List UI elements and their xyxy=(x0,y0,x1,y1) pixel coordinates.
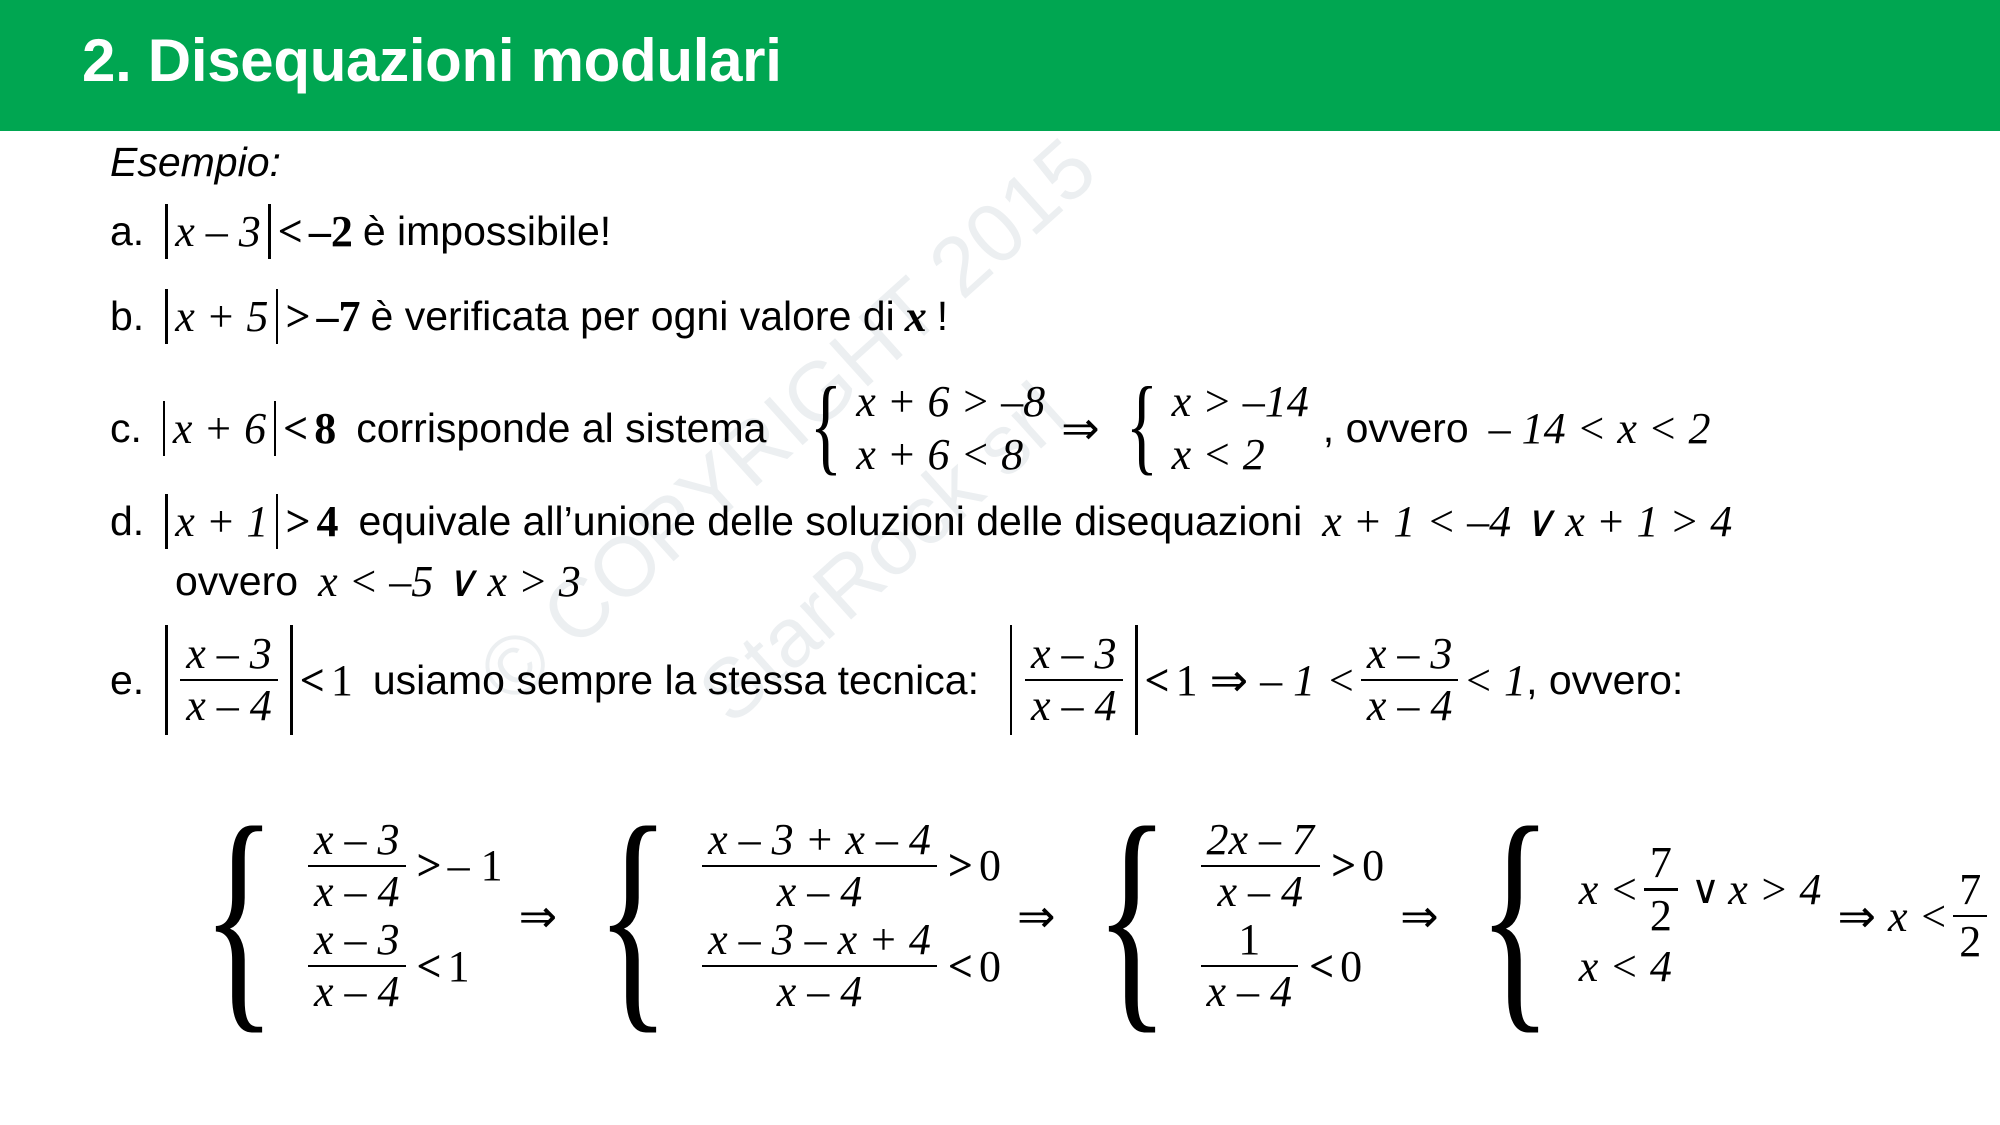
item-d-ovvero-line: ovvero x < –5 ∨ x > 3 xyxy=(175,556,581,607)
sys4-row1-or: ∨ xyxy=(1683,867,1728,913)
item-e-rhs: 1 xyxy=(331,655,353,706)
sys1-row2-den: x – 4 xyxy=(308,969,406,1015)
sys1-row2-rhs: 1 xyxy=(448,941,470,992)
item-c-sys1-row1: x + 6 > –8 xyxy=(856,376,1045,427)
item-b-text: è verificata per ogni valore di xyxy=(371,293,895,340)
sys4-row2: x < 4 xyxy=(1579,941,1672,992)
sys1-row1-rhs: – 1 xyxy=(448,840,503,891)
final-arrow-3: ⇒ xyxy=(1388,889,1451,943)
sys2-row1-den: x – 4 xyxy=(771,869,869,915)
final-system-4: { x < 7 2 ∨ x > 4 x < 4 xyxy=(1455,801,1822,1031)
item-c-rhs: 8 xyxy=(314,403,336,454)
brace-icon: { xyxy=(1126,376,1158,480)
item-b-rhs: –7 xyxy=(317,291,361,342)
sys2-row2-den: x – 4 xyxy=(771,969,869,1015)
final-system-2: { x – 3 + x – 4 x – 4 > 0 x – 3 – x + 4 xyxy=(573,801,1001,1031)
list-item-c: c. x + 6 < 8 corrisponde al sistema { x … xyxy=(110,376,1711,480)
list-item-b: b. x + 5 > –7 è verificata per ogni valo… xyxy=(110,291,948,342)
item-c-relation: < xyxy=(277,403,314,454)
sys3-row2-rel: < xyxy=(1303,941,1340,992)
item-e-derivation-den: x – 4 xyxy=(1025,683,1123,729)
conclusion-prefix: x < xyxy=(1888,891,1948,942)
brace-icon: { xyxy=(202,801,276,1031)
slide-header-band: 2. Disequazioni modulari xyxy=(0,0,2000,131)
item-a-expression: x – 3 < –2 xyxy=(164,206,353,257)
sys1-row2-num: x – 3 xyxy=(308,917,406,963)
final-arrow-4: ⇒ xyxy=(1825,889,1888,943)
item-b-abs-inner: x + 5 xyxy=(175,291,268,342)
sys3-row1-num: 2x – 7 xyxy=(1201,817,1321,863)
item-e-relation: < xyxy=(294,655,331,706)
item-e-frac-denominator: x – 4 xyxy=(180,683,278,729)
brace-icon: { xyxy=(1477,801,1551,1031)
brace-icon: { xyxy=(810,376,842,480)
item-e-chain-right: < 1 xyxy=(1463,655,1526,706)
conclusion-frac-num: 7 xyxy=(1953,867,1987,913)
item-a-abs-inner: x – 3 xyxy=(175,206,261,257)
item-e-chain-num: x – 3 xyxy=(1361,631,1459,677)
sys2-row1-rel: > xyxy=(942,840,979,891)
intro-label: Esempio: xyxy=(110,139,281,186)
item-c-expression: x + 6 < 8 xyxy=(162,403,336,454)
brace-icon: { xyxy=(1094,801,1168,1031)
item-d-ovvero-value: x < –5 ∨ x > 3 xyxy=(318,556,581,607)
item-c-abs-inner: x + 6 xyxy=(173,403,266,454)
item-a-rhs: –2 xyxy=(309,206,353,257)
final-system-3: { 2x – 7 x – 4 > 0 1 x – 4 xyxy=(1072,801,1385,1031)
final-arrow-1: ⇒ xyxy=(507,889,570,943)
item-c-result: – 14 < x < 2 xyxy=(1489,403,1711,454)
page-title: 2. Disequazioni modulari xyxy=(82,26,782,95)
item-marker-b: b. xyxy=(110,293,144,340)
sys3-row1-den: x – 4 xyxy=(1212,869,1310,915)
sys4-row1-frac-num: 7 xyxy=(1644,840,1678,886)
item-marker-d: d. xyxy=(110,498,144,545)
item-d-ovvero-label: ovvero xyxy=(175,558,298,605)
sys4-row1-suffix: x > 4 xyxy=(1728,864,1821,915)
item-a-text: è impossibile! xyxy=(363,208,611,255)
sys2-row1-num: x – 3 + x – 4 xyxy=(702,817,937,863)
item-e-derivation-num: x – 3 xyxy=(1025,631,1123,677)
final-conclusion: x < 7 2 xyxy=(1888,867,1992,965)
item-d-expression: x + 1 > 4 xyxy=(164,496,338,547)
item-e-frac-numerator: x – 3 xyxy=(180,631,278,677)
final-arrow-2: ⇒ xyxy=(1005,889,1068,943)
conclusion-frac-den: 2 xyxy=(1953,919,1987,965)
sys4-row1-prefix: x < xyxy=(1579,864,1639,915)
item-marker-c: c. xyxy=(110,405,142,452)
item-marker-e: e. xyxy=(110,657,144,704)
sys1-row1-den: x – 4 xyxy=(308,869,406,915)
item-b-expression: x + 5 > –7 xyxy=(164,291,360,342)
item-d-disequazioni: x + 1 < –4 ∨ x + 1 > 4 xyxy=(1322,496,1732,547)
final-derivation-chain: { x – 3 x – 4 > – 1 x – 3 x – 4 xyxy=(175,801,1992,1031)
item-e-text-end: , ovvero: xyxy=(1526,657,1683,704)
slide-body: Esempio: a. x – 3 < –2 è impossibile! b.… xyxy=(0,131,2000,1125)
sys3-row1-rhs: 0 xyxy=(1362,840,1384,891)
sys3-row2-rhs: 0 xyxy=(1340,941,1362,992)
item-e-expression: x – 3 x – 4 < 1 xyxy=(164,631,353,729)
item-c-system-1: { x + 6 > –8 x + 6 < 8 xyxy=(800,376,1045,480)
item-e-text: usiamo sempre la stessa tecnica: xyxy=(373,657,979,704)
item-e-derivation: x – 3 x – 4 < 1 ⇒ – 1 < x – 3 x – 4 < 1 xyxy=(1009,631,1526,729)
list-item-e: e. x – 3 x – 4 < 1 usiamo sempre la stes… xyxy=(110,631,1683,729)
item-e-chain-left: – 1 < xyxy=(1260,655,1356,706)
item-c-sys2-row1: x > –14 xyxy=(1172,376,1309,427)
item-c-implies-1: ⇒ xyxy=(1049,401,1112,455)
item-e-implies: ⇒ xyxy=(1198,653,1261,707)
item-d-abs-inner: x + 1 xyxy=(175,496,268,547)
brace-icon: { xyxy=(596,801,670,1031)
sys3-row2-den: x – 4 xyxy=(1201,969,1299,1015)
intro-line: Esempio: xyxy=(110,139,281,186)
list-item-d: d. x + 1 > 4 equivale all’unione delle s… xyxy=(110,496,1732,547)
final-system-1: { x – 3 x – 4 > – 1 x – 3 x – 4 xyxy=(179,801,503,1031)
sys2-row1-rhs: 0 xyxy=(979,840,1001,891)
item-marker-a: a. xyxy=(110,208,144,255)
sys1-row2-rel: < xyxy=(411,941,448,992)
sys2-row2-rel: < xyxy=(942,941,979,992)
item-c-sys2-row2: x < 2 xyxy=(1172,429,1265,480)
sys1-row1-num: x – 3 xyxy=(308,817,406,863)
list-item-a: a. x – 3 < –2 è impossibile! xyxy=(110,206,611,257)
item-e-repeat-rhs: 1 xyxy=(1176,655,1198,706)
sys4-row1-frac-den: 2 xyxy=(1644,893,1678,939)
sys1-row1-rel: > xyxy=(411,840,448,891)
item-c-text: corrisponde al sistema xyxy=(356,405,766,452)
sys2-row2-num: x – 3 – x + 4 xyxy=(702,917,937,963)
item-b-relation: > xyxy=(279,291,316,342)
item-e-chain-den: x – 4 xyxy=(1361,683,1459,729)
item-b-variable: x xyxy=(905,291,927,342)
item-b-text-end: ! xyxy=(937,293,948,340)
item-c-sys1-row2: x + 6 < 8 xyxy=(856,429,1023,480)
item-d-relation: > xyxy=(279,496,316,547)
item-a-relation: < xyxy=(272,206,309,257)
item-d-text: equivale all’unione delle soluzioni dell… xyxy=(359,498,1303,545)
item-c-system-2: { x > –14 x < 2 xyxy=(1116,376,1309,480)
sys3-row1-rel: > xyxy=(1325,840,1362,891)
item-d-rhs: 4 xyxy=(317,496,339,547)
sys3-row2-num: 1 xyxy=(1232,917,1266,963)
item-e-repeat-relation: < xyxy=(1139,655,1176,706)
sys2-row2-rhs: 0 xyxy=(979,941,1001,992)
item-c-text-2: , ovvero xyxy=(1323,405,1469,452)
